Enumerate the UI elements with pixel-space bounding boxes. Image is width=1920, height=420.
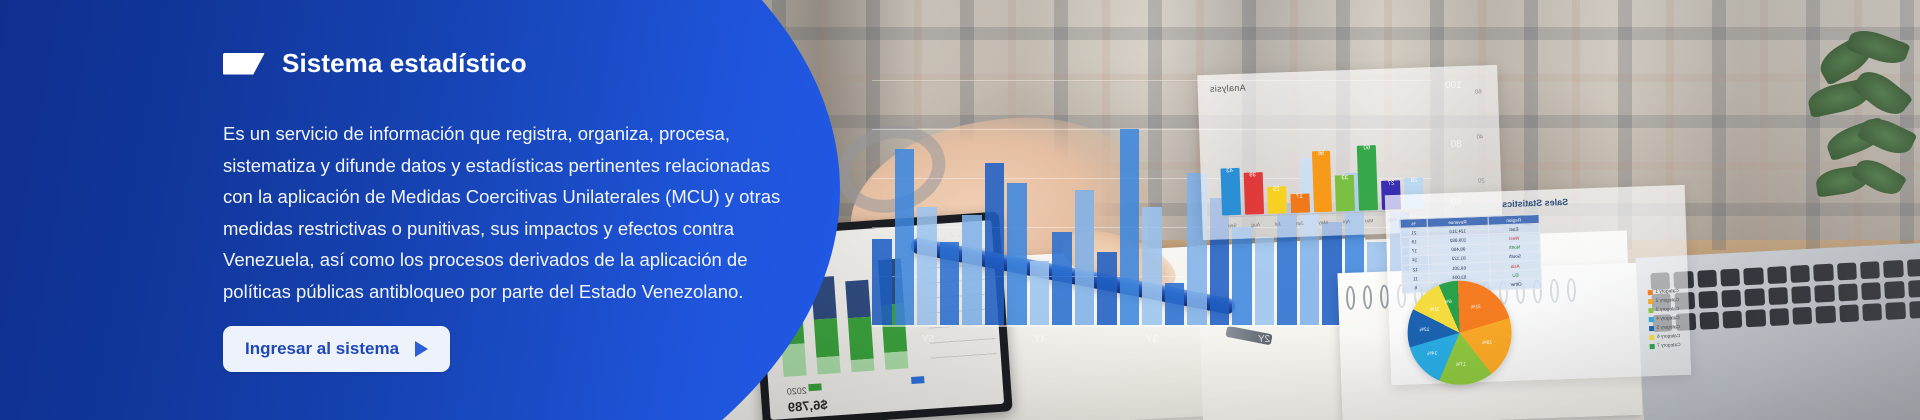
legend-label: Category 4	[1656, 316, 1680, 322]
keyboard-key	[1862, 303, 1882, 321]
pie-slice-label: 21%	[1470, 304, 1480, 310]
x-tick-label: May	[1318, 220, 1328, 226]
keyboard-key	[1791, 286, 1811, 304]
page-title: Sistema estadístico	[282, 48, 527, 79]
keyboard-key	[1769, 308, 1789, 326]
chart-bar	[1075, 190, 1095, 325]
keyboard-key	[1792, 307, 1812, 325]
chart-bar	[940, 242, 960, 325]
chart-bar	[1255, 237, 1275, 325]
enter-system-button[interactable]: Ingresar al sistema	[223, 326, 450, 372]
legend-swatch-icon	[1647, 299, 1652, 304]
pie-slice-label: 17%	[1456, 361, 1466, 367]
keyboard-key	[1767, 266, 1787, 284]
keyboard-key	[1720, 269, 1740, 287]
x-tick-label: 5Y	[922, 334, 934, 345]
chart-bar	[1097, 252, 1117, 326]
keyboard-key	[1745, 288, 1765, 306]
keyboard-key	[1839, 304, 1859, 322]
legend-swatch-icon	[1647, 290, 1652, 295]
chart-bar	[1052, 232, 1072, 325]
chart-bar	[985, 163, 1005, 325]
legend-item: Category 5	[1648, 325, 1680, 331]
keyboard-key	[1816, 306, 1836, 324]
x-tick-label: 3Y	[1146, 334, 1158, 345]
x-tick-label: Aug	[1251, 222, 1260, 228]
keyboard-key	[1813, 264, 1833, 282]
legend-item: Category 3	[1647, 307, 1679, 313]
legend-item: Category 2	[1647, 298, 1679, 304]
x-tick-label: Jul	[1275, 221, 1282, 227]
legend-swatch-icon	[1649, 344, 1654, 349]
potted-plant	[1808, 34, 1920, 244]
keyboard-key	[1699, 312, 1719, 330]
keyboard-key	[1860, 261, 1880, 279]
legend-swatch-icon	[1647, 308, 1652, 313]
keyboard-key	[1697, 270, 1717, 288]
chart-bar: 17	[1290, 194, 1310, 213]
flag-icon	[223, 53, 265, 75]
legend-swatch-icon	[1648, 335, 1653, 340]
chart-bar: 60	[1357, 145, 1378, 211]
chart-bar: 43	[1220, 168, 1241, 215]
paragraph-line: sistematiza y difunde datos y estadístic…	[223, 150, 833, 182]
keyboard-key	[1722, 310, 1742, 328]
legend-swatch-icon	[1648, 326, 1653, 331]
chart-bar: 25	[1267, 186, 1287, 214]
keyboard-key	[1884, 281, 1904, 299]
legend-swatch-icon	[1648, 317, 1653, 322]
keyboard-key	[1837, 262, 1857, 280]
keyboard-key	[1907, 259, 1920, 277]
paragraph-line: Es un servicio de información que regist…	[223, 118, 833, 150]
x-tick-label: Jun	[1296, 221, 1304, 227]
plant-leaf	[1857, 112, 1918, 160]
keyboard-key	[1790, 265, 1810, 283]
tablet-legend-navy	[911, 376, 924, 384]
description-paragraph: Es un servicio de información que regist…	[223, 118, 833, 307]
paragraph-line: medidas restrictivas o punitivas, sus im…	[223, 213, 833, 245]
pie-slice-label: 11%	[1430, 306, 1440, 312]
statistics-system-banner: 2020 $6,789 1Y2Y3Y4Y5Y 10080604020	[0, 0, 1920, 420]
banner-content: Sistema estadístico Es un servicio de in…	[0, 0, 880, 420]
plant-leaf	[1851, 64, 1914, 122]
keyboard-key	[1815, 285, 1835, 303]
keyboard-key	[1838, 283, 1858, 301]
pie-slice-label: 19%	[1482, 339, 1492, 345]
legend-item: Category 1	[1647, 289, 1679, 295]
chart-bar	[1030, 261, 1050, 325]
y-tick-label: 20	[1478, 178, 1485, 184]
title-row: Sistema estadístico	[223, 48, 527, 79]
pie-slice-label: 12%	[1420, 327, 1430, 333]
keyboard-key	[1908, 280, 1920, 298]
chart-bar	[1165, 283, 1185, 325]
legend-label: Category 1	[1655, 289, 1679, 295]
x-tick-label: Apr	[1342, 219, 1350, 225]
sales-statistics-card: Sales Statistics RegionRevenue%East124,3…	[1385, 185, 1691, 385]
chart-bar: 39	[1244, 172, 1264, 215]
legend-item: Category 7	[1649, 343, 1681, 349]
chart-bar	[1142, 207, 1162, 325]
keyboard-key	[1909, 301, 1920, 319]
x-tick-label: Sep	[1228, 223, 1237, 229]
keyboard-key	[1746, 309, 1766, 327]
chart-bar	[1007, 183, 1027, 325]
table-cell: Other	[1490, 279, 1542, 290]
keyboard-key	[1744, 267, 1764, 285]
x-tick-label: 4Y	[1034, 334, 1046, 345]
y-tick-label: 40	[1477, 134, 1484, 140]
chart-bar	[1120, 129, 1140, 325]
analysis-card-title: Analysis	[1210, 83, 1246, 94]
legend-item: Category 4	[1648, 316, 1680, 322]
play-arrow-icon	[415, 341, 428, 357]
legend-label: Category 3	[1655, 307, 1679, 313]
legend-label: Category 6	[1656, 334, 1680, 340]
x-tick-label: Mar	[1365, 218, 1374, 224]
pie-chart-legend: Category 1Category 2Category 3Category 4…	[1647, 289, 1681, 349]
chart-bar	[962, 215, 982, 325]
table-cell: 6	[1402, 283, 1429, 293]
legend-label: Category 5	[1656, 325, 1680, 331]
keyboard-key	[1698, 291, 1718, 309]
paragraph-line: Venezuela, así como los procesos derivad…	[223, 244, 833, 276]
keyboard-key	[1721, 290, 1741, 308]
chart-bar	[1232, 227, 1252, 325]
keyboard-key	[1861, 282, 1881, 300]
chart-bar: 33	[1335, 175, 1355, 212]
chart-bar: 56	[1311, 151, 1332, 213]
paragraph-line: políticas públicas antibloqueo por parte…	[223, 276, 833, 308]
stacked-bar-segment	[884, 351, 908, 370]
chart-bar	[917, 207, 937, 325]
chart-bar	[895, 149, 915, 325]
pie-slice-label: 14%	[1428, 351, 1438, 357]
analysis-card-yticks: 604020	[1475, 89, 1485, 184]
sales-card-title: Sales Statistics	[1385, 193, 1685, 213]
keyboard-keys	[1650, 259, 1920, 332]
plant-leaf	[1851, 153, 1907, 201]
legend-label: Category 2	[1655, 298, 1679, 304]
y-tick-label: 60	[1475, 89, 1482, 95]
keyboard-key	[1883, 260, 1903, 278]
legend-label: Category 7	[1657, 343, 1681, 349]
enter-system-button-label: Ingresar al sistema	[245, 339, 399, 359]
paragraph-line: con la aplicación de Medidas Coercitivas…	[223, 181, 833, 213]
pie-slice-label: 6%	[1444, 299, 1451, 305]
legend-item: Category 6	[1648, 334, 1680, 340]
keyboard-key	[1768, 287, 1788, 305]
x-tick-label: 2Y	[1258, 334, 1270, 345]
keyboard-key	[1886, 302, 1906, 320]
